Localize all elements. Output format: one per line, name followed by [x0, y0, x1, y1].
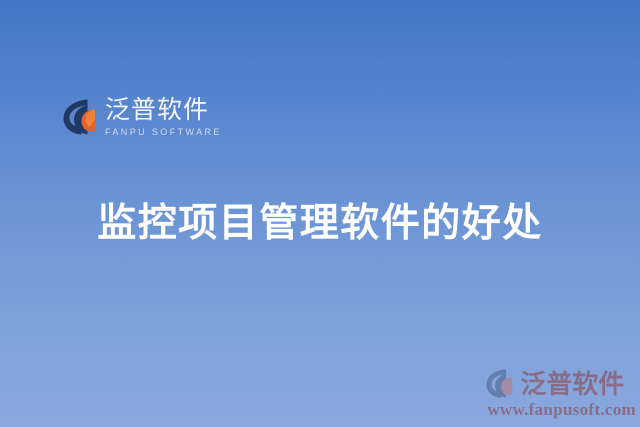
header-company-name-en: FANPU SOFTWARE	[105, 127, 222, 138]
watermark: 泛普软件 www.fanpusoft.com	[485, 368, 636, 419]
header-logo[interactable]: 泛普软件 FANPU SOFTWARE	[62, 96, 222, 138]
banner-canvas: 泛普软件 FANPU SOFTWARE 监控项目管理软件的好处 泛普软件 www…	[0, 0, 640, 427]
watermark-logo-row: 泛普软件	[485, 368, 624, 399]
fanpu-logo-icon	[62, 98, 98, 136]
header-company-name-cn: 泛普软件	[105, 96, 222, 124]
fanpu-logo-watermark-icon	[485, 368, 515, 399]
page-title: 监控项目管理软件的好处	[0, 198, 640, 250]
header-logo-wordmark: 泛普软件 FANPU SOFTWARE	[105, 96, 222, 138]
watermark-url: www.fanpusoft.com	[487, 400, 636, 419]
watermark-company-name: 泛普软件	[520, 370, 624, 398]
